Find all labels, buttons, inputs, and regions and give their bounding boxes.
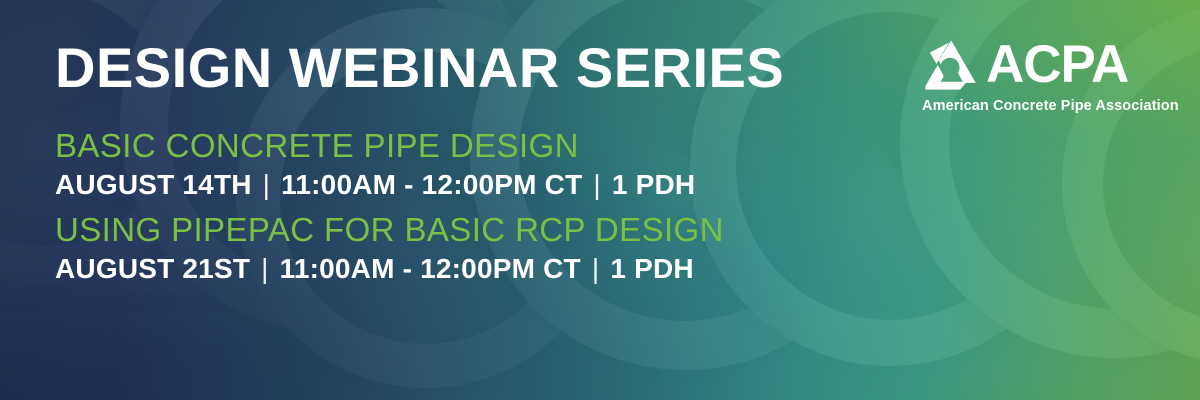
- session-block-1: BASIC CONCRETE PIPE DESIGN AUGUST 14TH |…: [55, 128, 695, 201]
- session-2-separator-2: |: [581, 253, 610, 285]
- session-2-credit: 1 PDH: [610, 253, 693, 285]
- acpa-wordmark: ACPA: [986, 39, 1128, 91]
- acpa-logo: ACPA American Concrete Pipe Association: [922, 36, 1168, 114]
- session-block-2: USING PIPEPAC FOR BASIC RCP DESIGN AUGUS…: [55, 212, 724, 285]
- session-2-meta: AUGUST 21ST | 11:00AM - 12:00PM CT | 1 P…: [55, 253, 724, 285]
- page-title: DESIGN WEBINAR SERIES: [55, 40, 784, 96]
- session-1-date: AUGUST 14TH: [55, 169, 252, 201]
- session-2-separator-1: |: [250, 253, 279, 285]
- session-1-credit: 1 PDH: [612, 169, 695, 201]
- acpa-logo-top: ACPA: [922, 36, 1168, 94]
- session-1-title: BASIC CONCRETE PIPE DESIGN: [55, 128, 695, 165]
- session-1-meta: AUGUST 14TH | 11:00AM - 12:00PM CT | 1 P…: [55, 169, 695, 201]
- session-1-separator-1: |: [252, 169, 281, 201]
- session-1-time: 11:00AM - 12:00PM CT: [281, 169, 582, 201]
- acpa-triangle-icon: [922, 39, 978, 91]
- webinar-banner: DESIGN WEBINAR SERIES BASIC CONCRETE PIP…: [0, 0, 1200, 400]
- banner-content: DESIGN WEBINAR SERIES BASIC CONCRETE PIP…: [0, 0, 1200, 400]
- session-2-date: AUGUST 21ST: [55, 253, 250, 285]
- session-2-title: USING PIPEPAC FOR BASIC RCP DESIGN: [55, 212, 724, 249]
- session-2-time: 11:00AM - 12:00PM CT: [280, 253, 581, 285]
- acpa-tagline: American Concrete Pipe Association: [922, 98, 1168, 114]
- session-1-separator-2: |: [582, 169, 611, 201]
